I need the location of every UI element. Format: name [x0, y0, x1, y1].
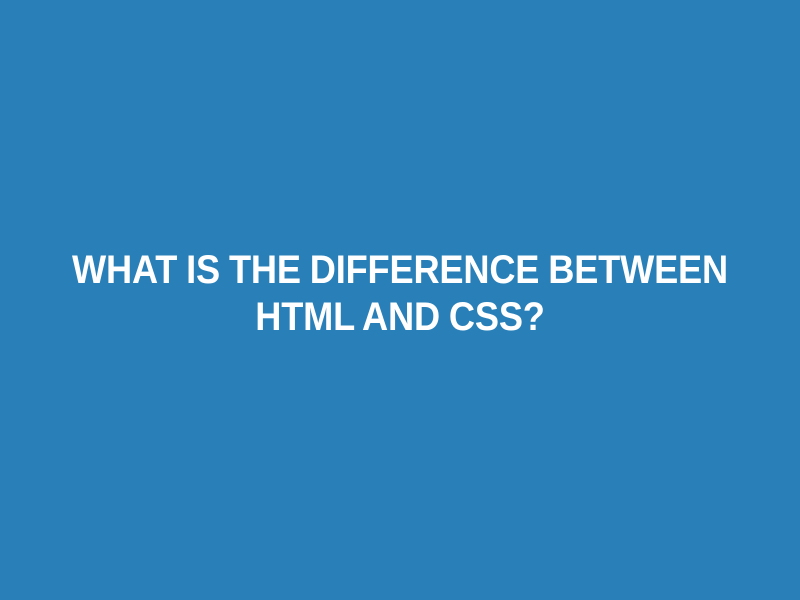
headline-block: What is the Difference Between HTML and …	[0, 247, 800, 341]
page-title: What is the Difference Between HTML and …	[71, 247, 730, 341]
blue-title-banner: What is the Difference Between HTML and …	[0, 0, 800, 600]
